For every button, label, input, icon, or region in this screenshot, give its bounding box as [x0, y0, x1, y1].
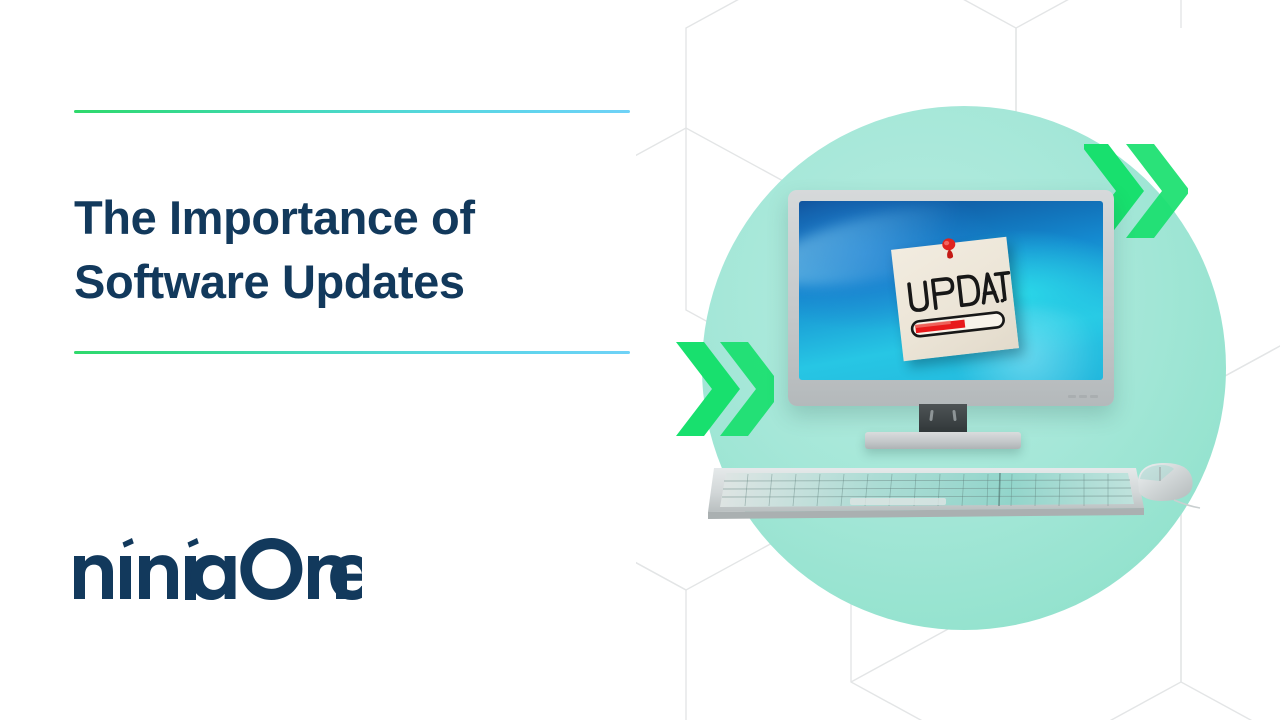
sticky-note-text: UPDATE: [901, 275, 1007, 315]
page-title: The Importance of Software Updates: [74, 186, 634, 313]
top-divider: [74, 110, 630, 113]
left-text-column: The Importance of Software Updates ninja…: [0, 0, 640, 720]
computer-mouse: [1130, 458, 1202, 510]
pushpin-icon: [937, 235, 962, 263]
bottom-divider: [74, 351, 630, 354]
ninjaone-logo: ninjaOne: [72, 534, 362, 604]
sticky-note: UPDATE: [891, 237, 1019, 361]
page-title-line-2: Software Updates: [74, 250, 634, 313]
monitor-screen: UPDATE: [799, 201, 1103, 380]
page-title-line-1: The Importance of: [74, 186, 634, 249]
monitor-indicator-lights: [1068, 395, 1098, 398]
monitor-stand-base: [865, 432, 1021, 449]
computer-monitor: UPDATE: [788, 190, 1114, 406]
slide-canvas: The Importance of Software Updates ninja…: [0, 0, 1280, 720]
keyboard: [700, 458, 1148, 520]
hero-illustration: UPDATE: [636, 0, 1280, 720]
chevron-left-group-icon: [674, 338, 774, 440]
